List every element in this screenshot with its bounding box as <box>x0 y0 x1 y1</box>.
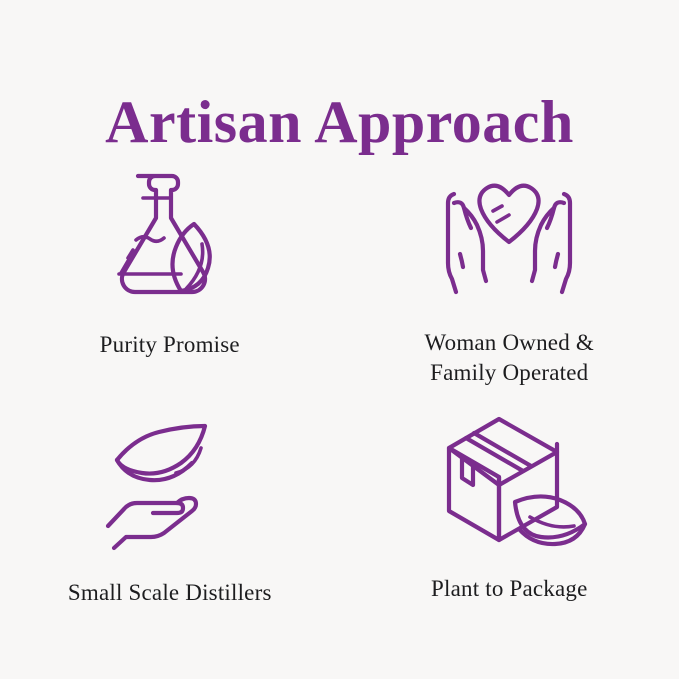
feature-label-line-1: Small Scale Distillers <box>68 580 272 605</box>
artisan-approach-panel: Artisan Approach <box>0 0 679 679</box>
feature-label: Woman Owned & Family Operated <box>425 328 594 388</box>
leaf-hand-icon <box>90 414 250 564</box>
feature-plant-to-package: Plant to Package <box>340 400 679 650</box>
feature-woman-owned: Woman Owned & Family Operated <box>340 150 679 400</box>
feature-label: Purity Promise <box>100 330 240 360</box>
feature-label: Small Scale Distillers <box>68 578 272 608</box>
feature-label: Plant to Package <box>431 574 588 604</box>
feature-small-scale-distillers: Small Scale Distillers <box>0 400 340 650</box>
page-title: Artisan Approach <box>0 86 679 158</box>
box-leaf-icon <box>429 410 589 560</box>
features-grid: Purity Promise <box>0 150 679 650</box>
feature-label-line-1: Woman Owned & <box>425 330 594 355</box>
feature-label-line-2: Family Operated <box>425 358 594 388</box>
feature-label-line-1: Plant to Package <box>431 576 588 601</box>
flask-leaf-icon <box>90 166 250 316</box>
feature-label-line-1: Purity Promise <box>100 332 240 357</box>
hands-heart-icon <box>429 164 589 314</box>
feature-purity-promise: Purity Promise <box>0 150 340 400</box>
